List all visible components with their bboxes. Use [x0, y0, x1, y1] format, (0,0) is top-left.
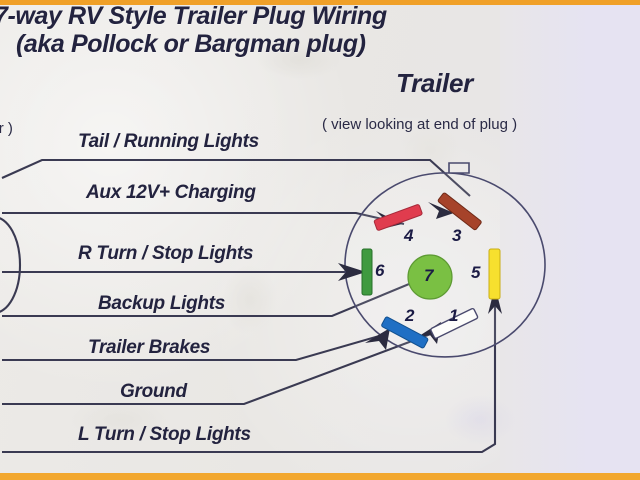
vehicle-connector-note: nector ) [0, 120, 13, 137]
pin-number-7: 7 [424, 266, 433, 286]
wire-label-aux-charging: Aux 12V+ Charging [86, 182, 256, 204]
trailer-heading: Trailer [396, 68, 473, 99]
wiring-diagram-page: 4 3 6 7 5 2 1 7-way RV Style Trailer Plu… [0, 0, 640, 480]
pin-number-5: 5 [471, 263, 480, 283]
plug-pin-terminals [0, 0, 640, 480]
pin-4-terminal [374, 204, 423, 231]
wire-label-tail-running-lights: Tail / Running Lights [78, 131, 259, 153]
wire-label-trailer-brakes: Trailer Brakes [88, 337, 210, 359]
page-title-line-1: 7-way RV Style Trailer Plug Wiring [0, 2, 387, 31]
pin-5-terminal [489, 249, 500, 299]
pin-number-3: 3 [452, 226, 461, 246]
wire-label-ground: Ground [120, 381, 187, 403]
wire-label-r-turn-stop-lights: R Turn / Stop Lights [78, 243, 253, 265]
pin-6-terminal [362, 249, 372, 295]
trailer-subtitle: ( view looking at end of plug ) [322, 116, 517, 133]
page-title-line-2: (aka Pollock or Bargman plug) [16, 30, 366, 59]
pin-number-6: 6 [375, 261, 384, 281]
pin-number-1: 1 [449, 306, 458, 326]
wire-label-backup-lights: Backup Lights [98, 293, 225, 315]
pin-number-4: 4 [404, 226, 413, 246]
pin-3-terminal [437, 192, 482, 230]
wire-label-l-turn-stop-lights: L Turn / Stop Lights [78, 424, 251, 446]
pin-number-2: 2 [405, 306, 414, 326]
